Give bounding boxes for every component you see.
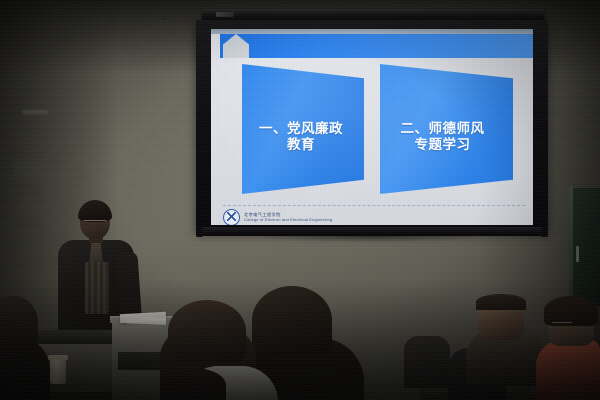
footer-text-block: 北京电气工程学院 College of Electron and Electri… [244,212,332,222]
weight-bar-cap-left [196,225,203,237]
slide-section-1-label: 一、党风廉政 教育 [253,122,349,153]
screen-drop-shadow [206,236,536,249]
wall-patch-mark [14,160,48,182]
presenter-glasses [83,220,107,226]
roller-brand-label [216,12,234,17]
slide-footer: 北京电气工程学院 College of Electron and Electri… [223,209,523,225]
slide-body: 一、党风廉政 教育 二、师德师风 专题学习 [220,58,533,204]
slide-section-2-label: 二、师德师风 专题学习 [395,122,491,153]
slide-section-1: 一、党风廉政 教育 [242,64,364,194]
screen-frame: 一、党风廉政 教育 二、师德师风 专题学习 北京电气工程学院 College o… [196,20,548,232]
slide-section-2: 二、师德师风 专题学习 [380,64,513,194]
screen-pull-cord[interactable] [162,0,164,20]
presentation-slide: 一、党风廉政 教育 二、师德师风 专题学习 北京电气工程学院 College o… [211,29,533,225]
screen-weight-bar [198,227,546,236]
door-handle[interactable] [576,246,579,262]
footer-english-name: College of Electron and Electrical Engin… [244,217,332,222]
slide-footer-divider [223,205,525,206]
slide-header-band [220,34,533,58]
projection-screen-assembly: 一、党风廉政 教育 二、师德师风 专题学习 北京电气工程学院 College o… [196,9,548,245]
screen-canvas: 一、党风廉政 教育 二、师德师风 专题学习 北京电气工程学院 College o… [211,29,533,225]
foreground-shading [0,280,600,400]
institution-emblem-icon [223,209,240,226]
presenter-hair [78,200,112,222]
weight-bar-cap-right [541,225,548,237]
lecture-hall-photo: 一、党风廉政 教育 二、师德师风 专题学习 北京电气工程学院 College o… [0,0,600,400]
wall-scuff-mark [22,110,48,114]
